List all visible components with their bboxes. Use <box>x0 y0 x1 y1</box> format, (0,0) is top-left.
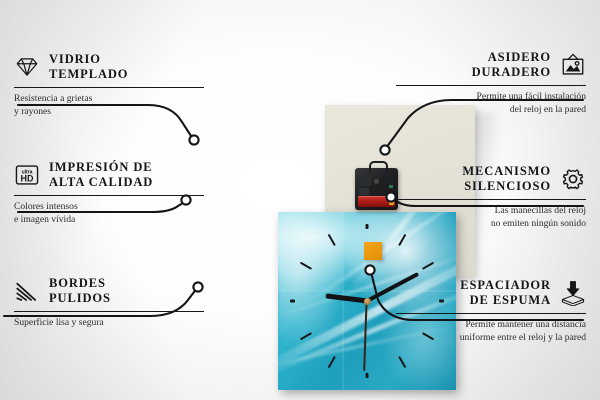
feature-desc-line2: del reloj en la pared <box>396 104 586 117</box>
feature-desc-line2: y rayones <box>14 106 204 119</box>
feature-divider <box>396 199 586 201</box>
feature-title-line2: PULIDOS <box>49 291 111 306</box>
polished-edges-icon <box>14 278 40 304</box>
feature-header: MECANISMO SILENCIOSO <box>396 164 586 195</box>
feature-impresion-alta-calidad: ultra HD IMPRESIÓN DE ALTA CALIDAD Color… <box>14 160 204 226</box>
feature-desc-line1: Resistencia a grietas <box>14 93 204 106</box>
feature-desc-line2: no emiten ningún sonido <box>396 218 586 231</box>
feature-description: Permite una fácil instalación del reloj … <box>396 91 586 116</box>
feature-description: Resistencia a grietas y rayones <box>14 93 204 118</box>
feature-desc-line1: Colores intensos <box>14 201 204 214</box>
feature-desc-line1: Superficie lisa y segura <box>14 317 204 330</box>
feature-asidero-duradero: ASIDERO DURADERO Permite una fácil insta… <box>396 50 586 116</box>
feature-title-line2: SILENCIOSO <box>462 179 551 194</box>
feature-desc-line2: e imagen vívida <box>14 214 204 227</box>
feature-divider <box>396 85 586 87</box>
feature-title-line2: DE ESPUMA <box>460 293 551 308</box>
feature-title-line2: TEMPLADO <box>49 67 128 82</box>
feature-header: VIDRIO TEMPLADO <box>14 52 204 83</box>
feature-desc-line1: Permite mantener una distancia <box>396 319 586 332</box>
feature-title-line1: BORDES <box>49 276 111 291</box>
feature-divider <box>14 87 204 89</box>
feature-title-line2: ALTA CALIDAD <box>49 175 153 190</box>
product-infographic: VIDRIO TEMPLADO Resistencia a grietas y … <box>0 0 600 400</box>
feature-title-line1: ESPACIADOR <box>460 278 551 293</box>
feature-header: ASIDERO DURADERO <box>396 50 586 81</box>
gear-icon <box>560 166 586 192</box>
feature-header: BORDES PULIDOS <box>14 276 204 307</box>
feature-bordes-pulidos: BORDES PULIDOS Superficie lisa y segura <box>14 276 204 330</box>
feature-description: Colores intensos e imagen vívida <box>14 201 204 226</box>
node-espaciador <box>365 265 374 274</box>
feature-mecanismo-silencioso: MECANISMO SILENCIOSO Las manecillas del … <box>396 164 586 230</box>
feature-title-line1: MECANISMO <box>462 164 551 179</box>
feature-divider <box>14 311 204 313</box>
ultra-hd-big-text: HD <box>21 174 34 184</box>
feature-desc-line1: Permite una fácil instalación <box>396 91 586 104</box>
feature-title: ESPACIADOR DE ESPUMA <box>460 278 551 309</box>
feature-title: BORDES PULIDOS <box>49 276 111 307</box>
feature-description: Las manecillas del reloj no emiten ningú… <box>396 205 586 230</box>
feature-title: IMPRESIÓN DE ALTA CALIDAD <box>49 160 153 191</box>
feature-espaciador-de-espuma: ESPACIADOR DE ESPUMA Permite mantener un… <box>396 278 586 344</box>
ultra-hd-icon: ultra HD <box>14 162 40 188</box>
feature-vidrio-templado: VIDRIO TEMPLADO Resistencia a grietas y … <box>14 52 204 118</box>
wall-hanger-frame-icon <box>560 52 586 78</box>
node-mecanismo <box>386 192 395 201</box>
feature-desc-line2: uniforme entre el reloj y la pared <box>396 332 586 345</box>
feature-description: Superficie lisa y segura <box>14 317 204 330</box>
feature-divider <box>14 195 204 197</box>
feature-title-line1: VIDRIO <box>49 52 128 67</box>
node-vidrio <box>189 135 198 144</box>
feature-description: Permite mantener una distancia uniforme … <box>396 319 586 344</box>
node-asidero <box>380 145 389 154</box>
feature-title-line2: DURADERO <box>472 65 551 80</box>
diamond-icon <box>14 54 40 80</box>
feature-title-line1: IMPRESIÓN DE <box>49 160 153 175</box>
feature-title: MECANISMO SILENCIOSO <box>462 164 551 195</box>
feature-divider <box>396 313 586 315</box>
feature-title: ASIDERO DURADERO <box>472 50 551 81</box>
foam-spacer-arrow-icon <box>560 280 586 306</box>
feature-title-line1: ASIDERO <box>472 50 551 65</box>
feature-header: ultra HD IMPRESIÓN DE ALTA CALIDAD <box>14 160 204 191</box>
feature-title: VIDRIO TEMPLADO <box>49 52 128 83</box>
feature-desc-line1: Las manecillas del reloj <box>396 205 586 218</box>
feature-header: ESPACIADOR DE ESPUMA <box>396 278 586 309</box>
